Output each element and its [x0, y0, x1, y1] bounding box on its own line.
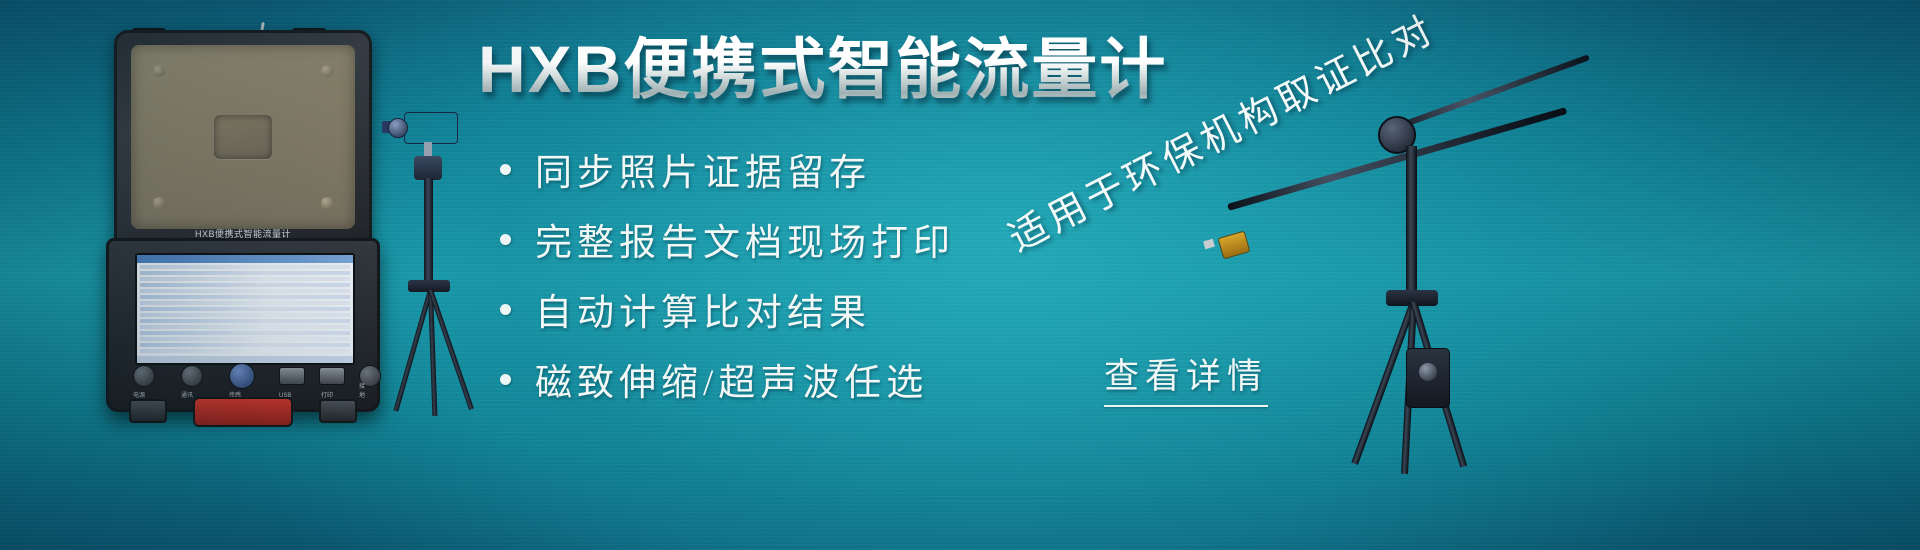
- camera-body: [404, 112, 458, 144]
- port-power: [133, 365, 155, 387]
- link-underline: [1104, 405, 1268, 407]
- tripod-leg: [393, 289, 433, 411]
- bullet-dot-icon: [500, 374, 511, 385]
- screen-titlebar: [137, 255, 353, 263]
- port-printer: [319, 367, 345, 385]
- port-comm: [181, 365, 203, 387]
- port-sensor: [229, 363, 255, 389]
- camera-tripod-image: [352, 112, 512, 412]
- foam-screw: [321, 197, 333, 209]
- bullet-dot-icon: [500, 234, 511, 245]
- feature-label: 同步照片证据留存: [535, 142, 871, 196]
- case-body: HXB便携式智能流量计: [106, 238, 380, 412]
- case-lid: [114, 30, 372, 244]
- tripod-center-column: [424, 178, 433, 284]
- case-foam-insert: [131, 45, 355, 229]
- list-item: 同步照片证据留存: [500, 134, 1020, 204]
- camera-lens-icon: [388, 118, 408, 138]
- list-item: 自动计算比对结果: [500, 274, 1020, 344]
- port-label: 打印: [321, 390, 333, 399]
- list-item: 完整报告文档现场打印: [500, 204, 1020, 274]
- feature-label: 完整报告文档现场打印: [535, 212, 955, 266]
- view-details-link[interactable]: 查看详情: [1104, 348, 1268, 407]
- product-banner: HXB便携式智能流量计: [0, 0, 1920, 550]
- foam-screw: [153, 65, 165, 77]
- screen-data-table: [137, 263, 353, 357]
- list-item: 磁致伸缩/超声波任选: [500, 344, 1020, 414]
- tripod-mast: [1406, 146, 1417, 296]
- foam-screw: [153, 197, 165, 209]
- bullet-dot-icon: [500, 304, 511, 315]
- port-usb: [279, 367, 305, 385]
- portable-flowmeter-case-image: HXB便携式智能流量计: [96, 24, 396, 434]
- feature-label: 磁致伸缩/超声波任选: [535, 352, 928, 406]
- device-port-row: 电源 通讯 传感 USB 打印 接地: [129, 363, 357, 397]
- sensor-probe-tip: [1203, 239, 1215, 249]
- feature-label: 自动计算比对结果: [535, 282, 871, 336]
- banner-title: HXB便携式智能流量计: [478, 26, 1238, 112]
- view-details-label: 查看详情: [1104, 357, 1268, 396]
- device-model-label: HXB便携式智能流量计: [195, 227, 291, 240]
- flow-sensor-head: [1218, 231, 1251, 260]
- port-label: 电源: [133, 390, 145, 399]
- device-screen: [135, 253, 355, 365]
- tripod-head: [414, 156, 442, 180]
- screen-statusbar: [137, 356, 353, 363]
- foam-screw: [321, 65, 333, 77]
- feature-list: 同步照片证据留存 完整报告文档现场打印 自动计算比对结果 磁致伸缩/超声波任选: [500, 134, 1020, 414]
- controller-dial-icon: [1419, 363, 1437, 381]
- case-handle: [193, 397, 293, 427]
- case-latch-left: [129, 399, 167, 423]
- sensor-upper-boom: [1385, 54, 1590, 134]
- foam-cutout: [214, 115, 272, 159]
- bullet-dot-icon: [500, 164, 511, 175]
- port-label: 通讯: [181, 390, 193, 399]
- sensor-controller-box: [1406, 348, 1450, 408]
